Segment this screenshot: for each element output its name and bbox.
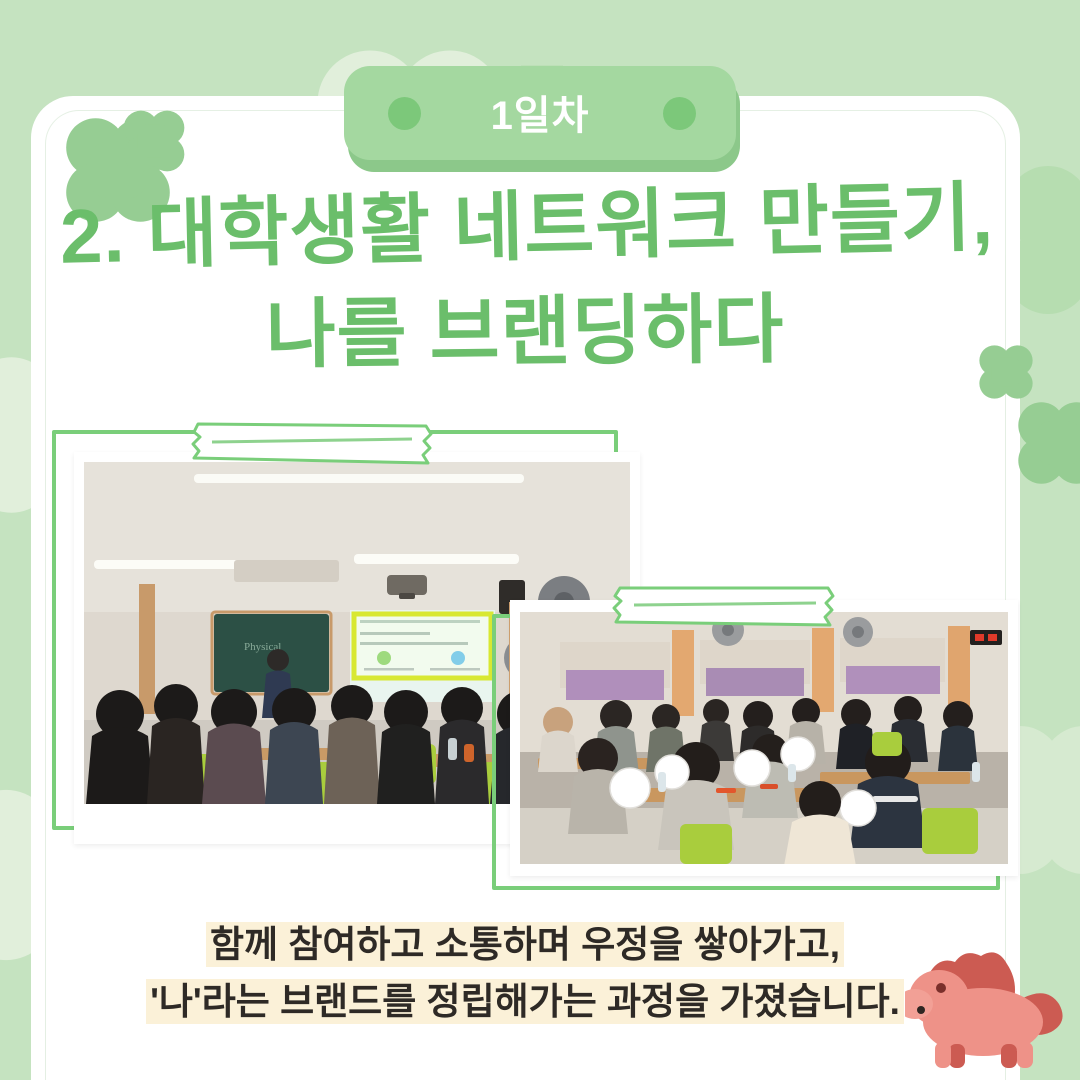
photo-image-activity[interactable] (520, 612, 1008, 864)
photo-card-activity[interactable] (492, 590, 1020, 890)
washi-tape-decoration (190, 406, 440, 468)
poster-canvas: 1일차 2. 대학생활 네트워크 만들기, 나를 브랜딩하다 (0, 0, 1080, 1080)
washi-tape-decoration (612, 572, 842, 630)
badge-label: 1일차 (344, 66, 736, 160)
caption-line-1: 함께 참여하고 소통하며 우정을 쌓아가고, (60, 916, 990, 973)
caption-block: 함께 참여하고 소통하며 우정을 쌓아가고, '나'라는 브랜드를 정립해가는 … (60, 916, 990, 1031)
title-line-2: 나를 브랜딩하다 (59, 276, 990, 391)
day-badge: 1일차 (344, 66, 740, 172)
caption-line-2: '나'라는 브랜드를 정립해가는 과정을 가졌습니다. (60, 973, 990, 1030)
title-line-1: 2. 대학생활 네트워크 만들기, (59, 166, 991, 290)
page-title: 2. 대학생활 네트워크 만들기, 나를 브랜딩하다 (60, 176, 990, 386)
